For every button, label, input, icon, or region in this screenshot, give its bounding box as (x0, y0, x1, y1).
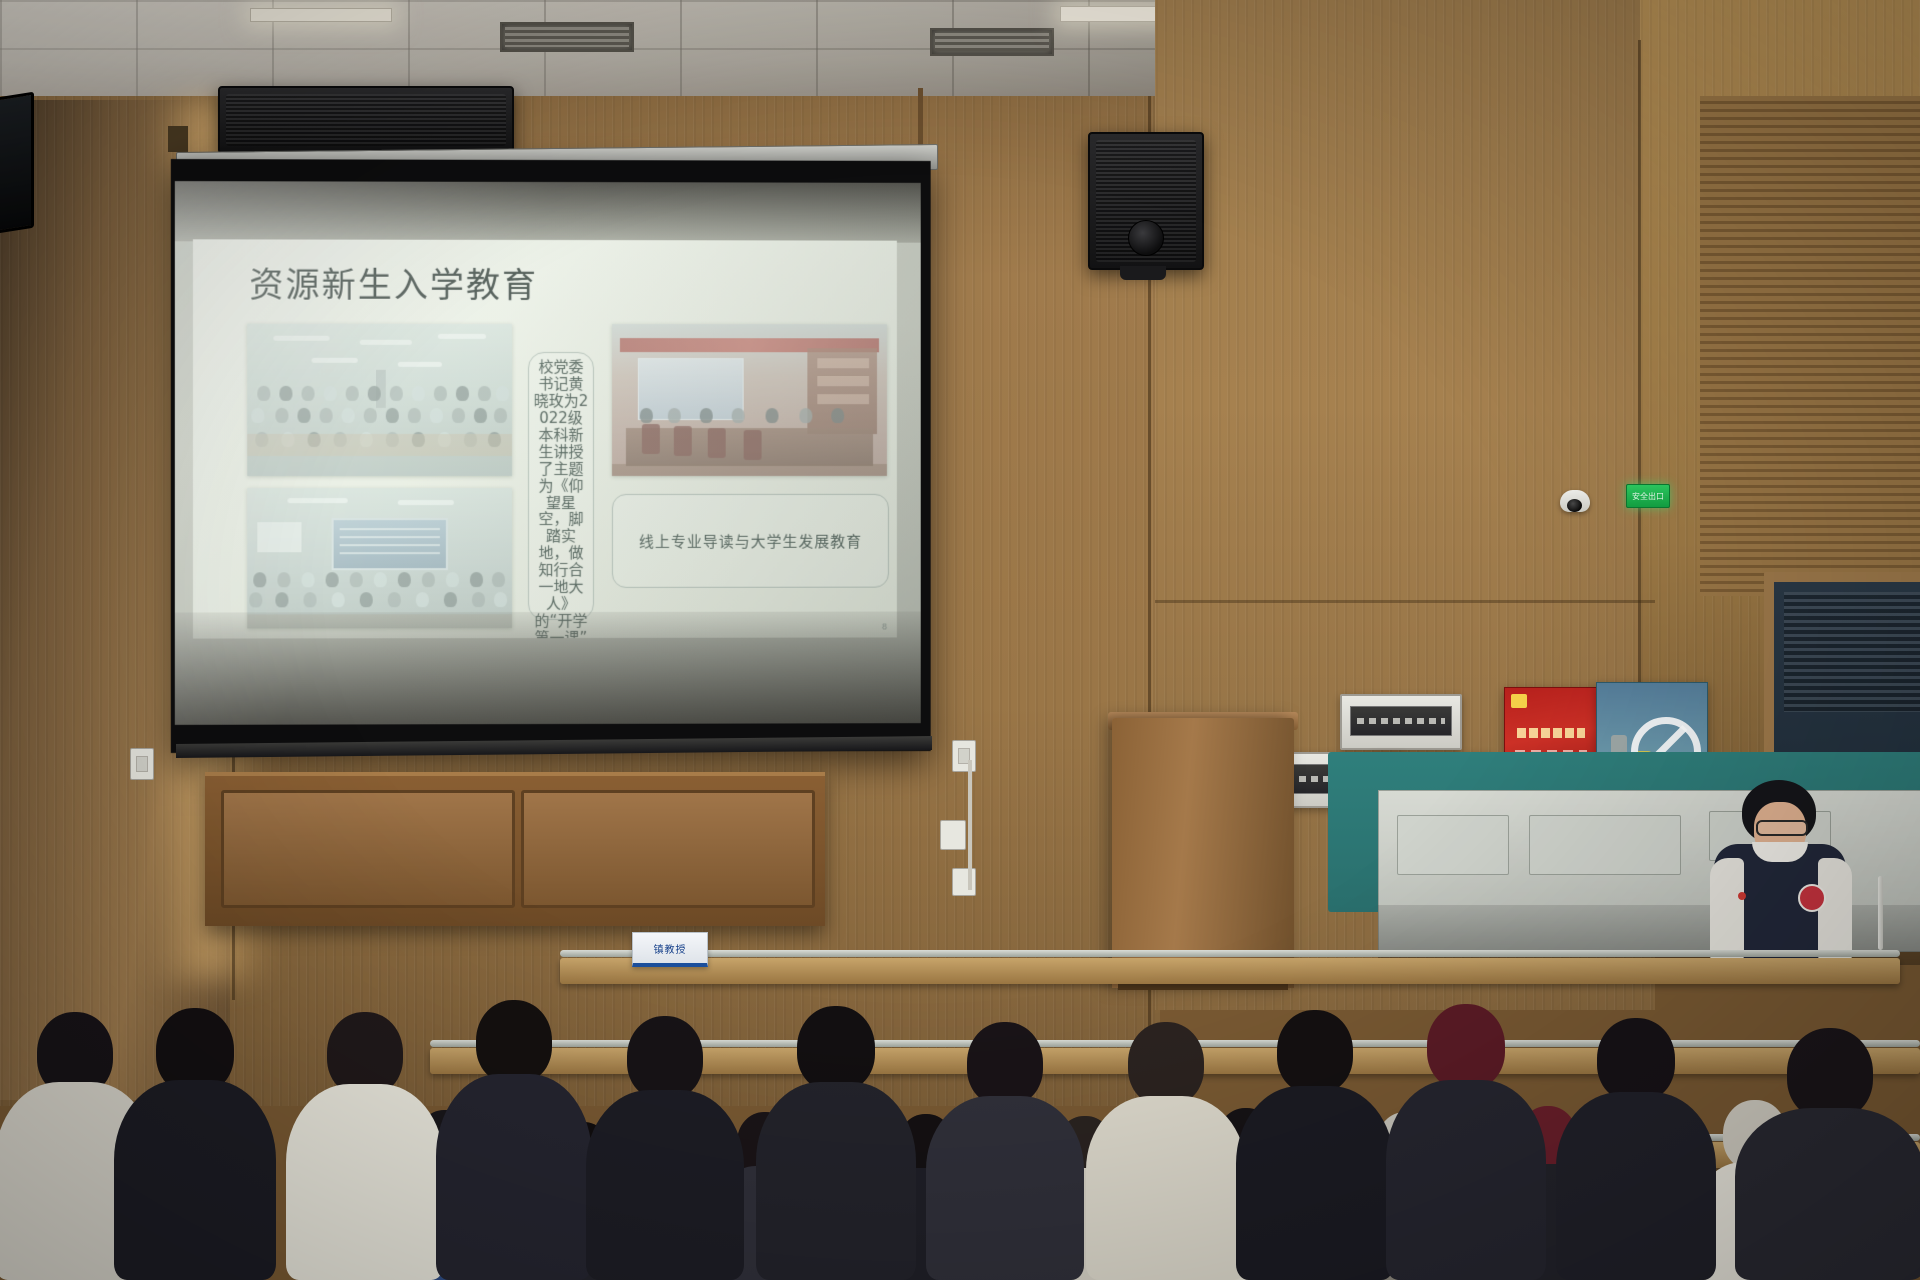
wall-seam-horizontal (1155, 600, 1655, 603)
screen-dark-band-top (175, 181, 921, 243)
projection-surface: 资源新生入学教育 (175, 181, 921, 725)
audience-seating-area: 镇教授 (0, 930, 1920, 1280)
presenter-lapel-mic-icon (1738, 892, 1746, 900)
speaker-mount-bracket (1120, 266, 1166, 280)
stage-front-wall (205, 772, 825, 926)
wall-socket-1 (940, 820, 966, 850)
slide-infobox-text: 线上专业导读与大学生发展教育 (639, 530, 862, 551)
slatted-wall-panel (1700, 96, 1920, 596)
lecture-hall-scene: 资源新生入学教育 (0, 0, 1920, 1280)
audience-member (290, 1004, 440, 1280)
presentation-slide: 资源新生入学教育 (193, 239, 897, 638)
audience-member (1390, 998, 1542, 1280)
audience-member (1240, 1002, 1390, 1280)
photo-classroom-lecture (247, 488, 512, 628)
nameplate-label: 镇教授 (654, 941, 687, 956)
door-vent-grille (1784, 592, 1920, 712)
screen-dark-band-bottom (175, 611, 921, 724)
floor-cable (968, 760, 972, 890)
audience-member (590, 1004, 740, 1280)
ceiling-speaker (218, 86, 514, 154)
light-switch[interactable] (130, 748, 154, 780)
screen-mount-hook (168, 126, 188, 152)
photo-conference-room (612, 324, 887, 476)
presenter-badge (1798, 884, 1826, 912)
ceiling-light-3 (250, 8, 392, 22)
bench-row-1 (560, 958, 1900, 984)
emergency-exit-sign: 安全出口 (1626, 484, 1670, 508)
exit-sign-label: 安全出口 (1632, 491, 1664, 502)
audience-member (1740, 1012, 1920, 1280)
audience-member (930, 1008, 1080, 1280)
ceiling-vent-1 (500, 22, 634, 52)
audience-member (120, 998, 270, 1280)
photo-auditorium-students (247, 324, 512, 476)
electrical-panel-top (1340, 694, 1462, 750)
wall-socket-2 (952, 868, 976, 896)
wall-monitor-left (0, 92, 34, 235)
audience-member (1090, 1008, 1242, 1280)
bench-rail-1 (560, 950, 1900, 957)
slide-callout-box: 校党委书记黄晓玫为2022级本科新生讲授了主题为《仰望星空，脚踏实地，做知行合一… (528, 352, 594, 620)
dome-security-camera (1560, 490, 1590, 512)
slide-title: 资源新生入学教育 (249, 257, 538, 307)
audience-member (440, 996, 588, 1280)
presenter-glasses-icon (1756, 820, 1808, 836)
audience-member (760, 1000, 912, 1280)
projection-screen: 资源新生入学教育 (171, 159, 931, 753)
slide-infobox: 线上专业导读与大学生发展教育 (612, 494, 889, 588)
poster-emblem-icon (1511, 694, 1527, 708)
slide-callout-text: 校党委书记黄晓玫为2022级本科新生讲授了主题为《仰望星空，脚踏实地，做知行合一… (533, 359, 589, 639)
ceiling-vent-2 (930, 28, 1054, 56)
wall-mounted-speaker (1088, 132, 1204, 270)
desk-nameplate: 镇教授 (632, 932, 708, 967)
audience-member (1560, 1006, 1712, 1280)
wall-outlet[interactable] (952, 740, 976, 772)
